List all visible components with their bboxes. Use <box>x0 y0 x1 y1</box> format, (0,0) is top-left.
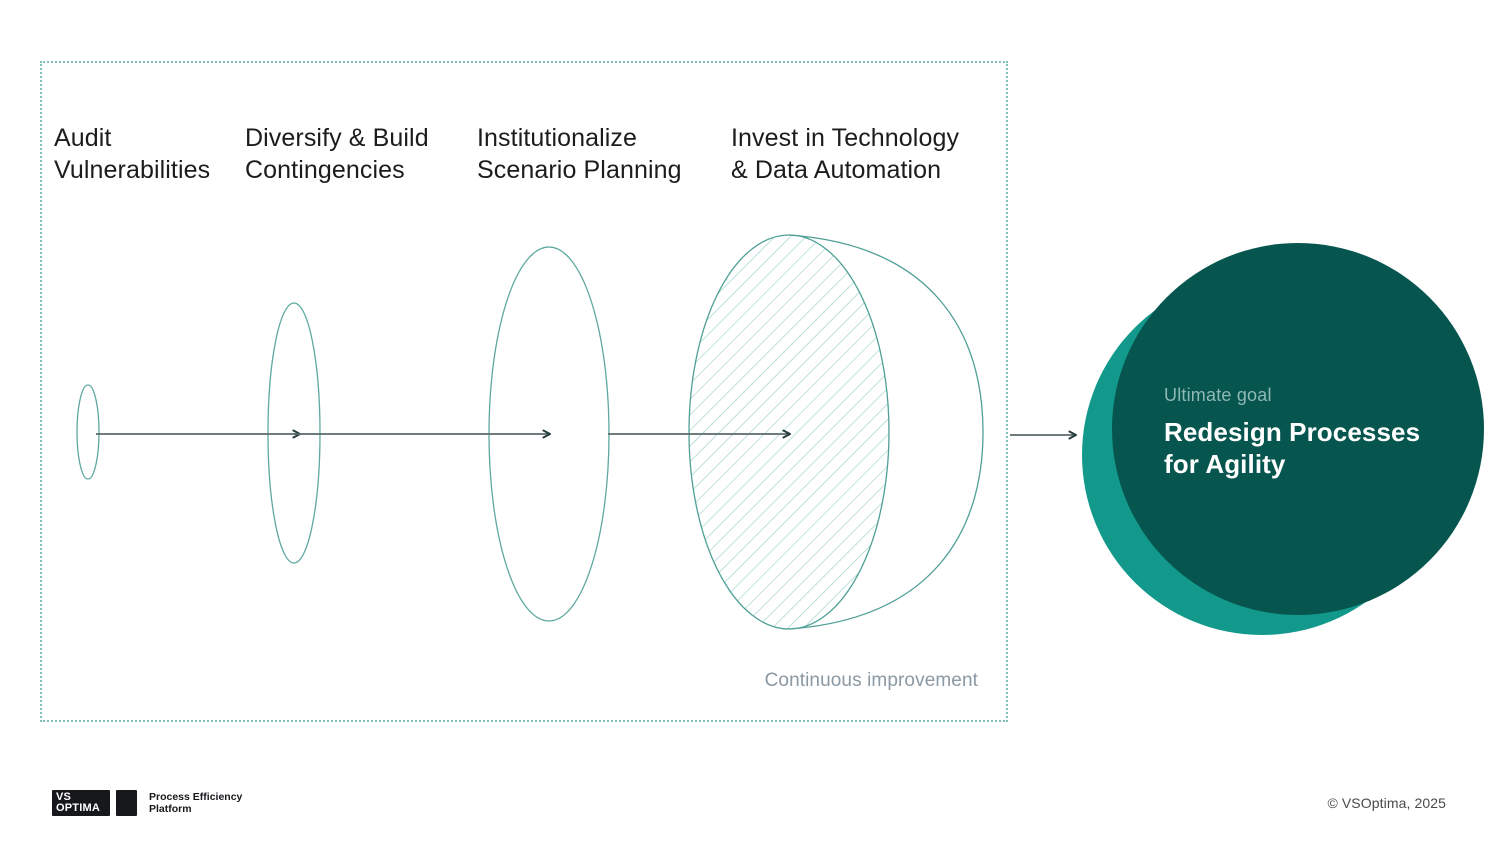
stage-label-audit-vulnerabilities: Audit Vulnerabilities <box>54 122 210 186</box>
stage-label-invest-in-technology-data-automation: Invest in Technology & Data Automation <box>731 122 959 186</box>
copyright-text: © VSOptima, 2025 <box>1327 795 1446 811</box>
logo-tagline: Process Efficiency Platform <box>149 791 242 815</box>
stage-label-diversify-build-contingencies: Diversify & Build Contingencies <box>245 122 429 186</box>
logo-wordmark: VS OPTIMA <box>52 790 110 816</box>
logo-line-2: OPTIMA <box>56 803 110 814</box>
vsoptima-logo: VS OPTIMA Process Efficiency Platform <box>52 790 242 816</box>
ultimate-goal-graphic: Ultimate goal Redesign Processes for Agi… <box>1072 243 1484 635</box>
diagram-canvas: Continuous improvement Audit Vulnerabili… <box>0 0 1500 844</box>
goal-text-block: Ultimate goal Redesign Processes for Agi… <box>1164 385 1424 480</box>
goal-title: Redesign Processes for Agility <box>1164 416 1424 480</box>
footer: VS OPTIMA Process Efficiency Platform © … <box>0 764 1500 844</box>
goal-eyebrow: Ultimate goal <box>1164 385 1424 406</box>
continuous-improvement-label: Continuous improvement <box>765 670 978 692</box>
stage-label-institutionalize-scenario-planning: Institutionalize Scenario Planning <box>477 122 682 186</box>
logo-square-icon <box>116 790 137 816</box>
